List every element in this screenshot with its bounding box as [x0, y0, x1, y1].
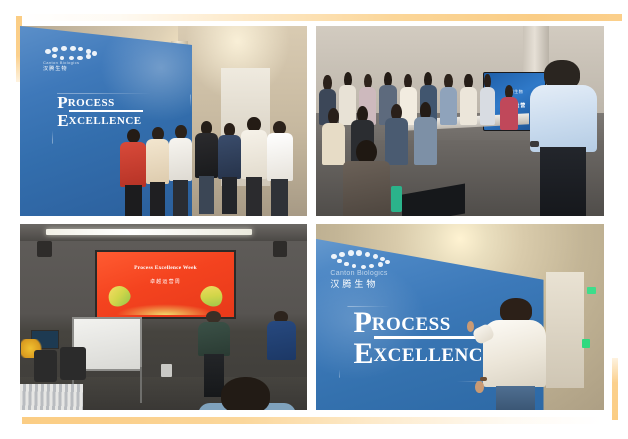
headline-excellence: XCELLENCE: [69, 116, 142, 127]
presenter-shirt: [530, 85, 596, 152]
top-accent-bar: [22, 14, 622, 21]
wall-speaker-left: [37, 241, 51, 258]
person-figure: [218, 123, 241, 214]
slide-title-cn: 卓越运营周: [150, 278, 181, 285]
person-figure: [169, 125, 192, 216]
collage-canvas: Canton Biologics 汉腾生物 P ROCESS E XCELLEN…: [0, 0, 628, 439]
projection-screen: Process Excellence Week 卓越运营周: [95, 250, 237, 319]
corridor-door: [546, 272, 583, 387]
photo-bottom-right: Canton Biologics 汉腾生物 P ROCESS E XCELLEN…: [316, 224, 604, 410]
signing-participant: [483, 298, 546, 410]
exit-sign-icon: [582, 339, 589, 348]
speaker-shirt: [198, 322, 230, 356]
canton-biologics-logo: Canton Biologics 汉腾生物: [330, 250, 416, 289]
ceiling-light: [46, 229, 253, 235]
exit-sign-icon: [587, 287, 596, 293]
participant-hand: [475, 381, 483, 393]
presenter-figure: [529, 60, 598, 216]
audience-member: [414, 102, 437, 165]
bottom-accent-bar: [22, 417, 602, 424]
photo-bottom-left: Process Excellence Week 卓越运营周: [20, 224, 307, 410]
headline-e-cap: E: [57, 114, 68, 127]
participant-trousers: [496, 386, 535, 410]
assistant-figure: [267, 311, 296, 385]
photo-top-left: Canton Biologics 汉腾生物 P ROCESS E XCELLEN…: [20, 26, 307, 216]
audience-member: [460, 74, 477, 125]
water-bottle: [391, 186, 403, 213]
presenter-wristwatch: [530, 141, 538, 146]
headline-p-cap: P: [353, 311, 371, 334]
person-figure: [146, 127, 169, 216]
process-excellence-headline: P ROCESS E XCELLENCE: [57, 96, 143, 127]
waste-bin: [161, 364, 172, 377]
logo-text-en: Canton Biologics: [330, 270, 387, 277]
person-figure: [120, 129, 146, 216]
photo-top-right: 汉腾生物 卓越运营: [316, 26, 604, 216]
foreground-attendee: [342, 140, 391, 216]
audience-member: [480, 74, 494, 125]
headline-process: ROCESS: [68, 98, 115, 109]
office-chair: [34, 350, 57, 382]
canton-biologics-logo: Canton Biologics 汉腾生物: [43, 45, 129, 72]
assistant-shirt: [267, 321, 296, 360]
logo-text-cn: 汉腾生物: [43, 65, 68, 72]
headline-excellence: XCELLENCE: [373, 346, 496, 365]
logo-text-cn: 汉腾生物: [330, 277, 378, 290]
headline-process: ROCESS: [372, 315, 451, 334]
audience-member: [440, 74, 457, 125]
headline-p-cap: P: [57, 96, 67, 109]
headline-rule: [69, 110, 143, 112]
audience-member: [500, 85, 517, 131]
person-figure: [267, 121, 293, 216]
office-chair: [60, 347, 86, 380]
person-figure: [195, 121, 218, 214]
logo-text-en: Canton Biologics: [43, 60, 79, 65]
person-figure: [241, 117, 267, 216]
side-table: [20, 384, 83, 410]
headline-e-cap: E: [353, 342, 373, 365]
wall-speaker-right: [273, 241, 287, 258]
right-accent-bar: [612, 358, 618, 420]
foreground-attendee-head: [221, 377, 270, 410]
participant-writing-hand: [467, 321, 474, 331]
slide-title-en: Process Excellence Week: [134, 265, 197, 271]
presenter-trousers: [540, 147, 586, 216]
